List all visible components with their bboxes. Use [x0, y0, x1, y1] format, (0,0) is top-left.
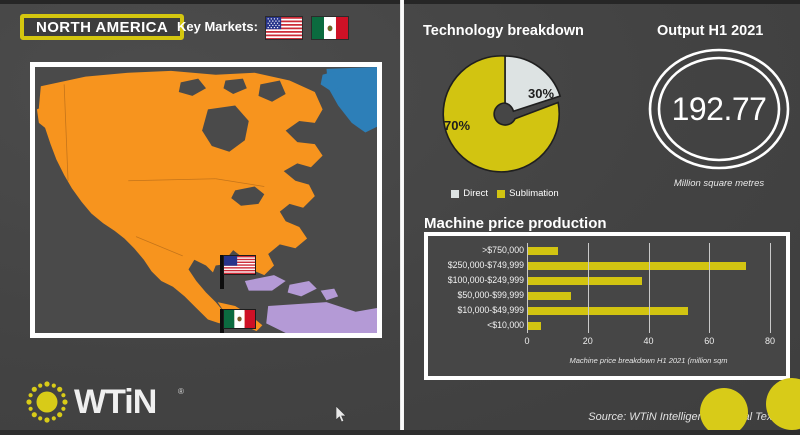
donut-slice-direct — [505, 56, 560, 111]
chart-axis-line — [527, 243, 528, 333]
chart-plot-area — [527, 243, 770, 333]
donut-label-direct: 30% — [528, 86, 554, 101]
decorative-circle — [700, 388, 748, 435]
chart-category-label: $10,000-$49,999 — [428, 303, 527, 318]
legend-label-direct: Direct — [463, 188, 488, 199]
slide-canvas: NORTH AMERICA Key Markets: — [0, 0, 800, 435]
chart-gridline — [709, 243, 710, 333]
output-gauge: 192.77 — [647, 47, 791, 171]
chart-bar — [527, 247, 558, 255]
chart-x-tick: 0 — [524, 336, 529, 346]
technology-legend: Direct Sublimation — [432, 188, 578, 199]
chart-bar — [527, 277, 642, 285]
chart-bar — [527, 307, 688, 315]
technology-breakdown-title: Technology breakdown — [423, 23, 584, 39]
mouse-cursor — [336, 406, 348, 424]
legend-item-direct: Direct — [451, 188, 488, 199]
chart-axis-caption: Machine price breakdown H1 2021 (million… — [527, 356, 770, 365]
output-value: 192.77 — [647, 47, 791, 171]
chart-category-label: $100,000-$249,999 — [428, 273, 527, 288]
technology-donut-chart: 30% 70% — [432, 48, 578, 180]
chart-gridline — [588, 243, 589, 333]
key-markets-label: Key Markets: — [177, 19, 258, 34]
chart-x-tick: 40 — [643, 336, 653, 346]
chart-x-tick: 80 — [765, 336, 775, 346]
chart-bar — [527, 262, 746, 270]
trademark-symbol: ® — [178, 387, 184, 396]
chart-x-axis-ticks: 020406080 — [527, 336, 770, 350]
chart-category-label: >$750,000 — [428, 243, 527, 258]
legend-label-sublimation: Sublimation — [509, 188, 559, 199]
chart-category-labels: >$750,000$250,000-$749,999$100,000-$249,… — [428, 243, 527, 333]
donut-label-sublimation: 70% — [444, 118, 470, 133]
legend-swatch-direct — [451, 190, 459, 198]
output-caption: Million square metres — [647, 178, 791, 189]
chart-bar — [527, 292, 571, 300]
north-america-map — [30, 62, 382, 338]
united-states-flag — [223, 255, 256, 275]
chart-gridline — [649, 243, 650, 333]
region-label: NORTH AMERICA — [36, 19, 168, 36]
wtin-wordmark: WTiN — [74, 383, 156, 422]
united-states-flag — [265, 16, 303, 40]
output-title: Output H1 2021 — [657, 23, 763, 39]
panel-divider — [400, 0, 404, 435]
chart-category-label: $50,000-$99,999 — [428, 288, 527, 303]
chart-x-tick: 60 — [704, 336, 714, 346]
region-badge: NORTH AMERICA — [20, 14, 184, 40]
legend-swatch-sublimation — [497, 190, 505, 198]
mexico-flag — [223, 309, 256, 329]
chart-category-label: $250,000-$749,999 — [428, 258, 527, 273]
chart-x-tick: 20 — [583, 336, 593, 346]
legend-item-sublimation: Sublimation — [497, 188, 559, 199]
source-attribution: Source: WTiN Intelligence: Digital Texti… — [588, 411, 792, 423]
sun-icon — [24, 379, 70, 425]
bottom-edge-strip — [0, 430, 800, 435]
wtin-logo: WTiN ® — [18, 371, 198, 425]
chart-gridline — [770, 243, 771, 333]
chart-bar — [527, 322, 541, 330]
machine-price-chart: >$750,000$250,000-$749,999$100,000-$249,… — [424, 232, 790, 380]
machine-price-title: Machine price production — [424, 215, 607, 232]
chart-category-label: <$10,000 — [428, 318, 527, 333]
wtin-wordmark-text: WTiN — [74, 383, 156, 421]
mexico-flag — [311, 16, 349, 40]
